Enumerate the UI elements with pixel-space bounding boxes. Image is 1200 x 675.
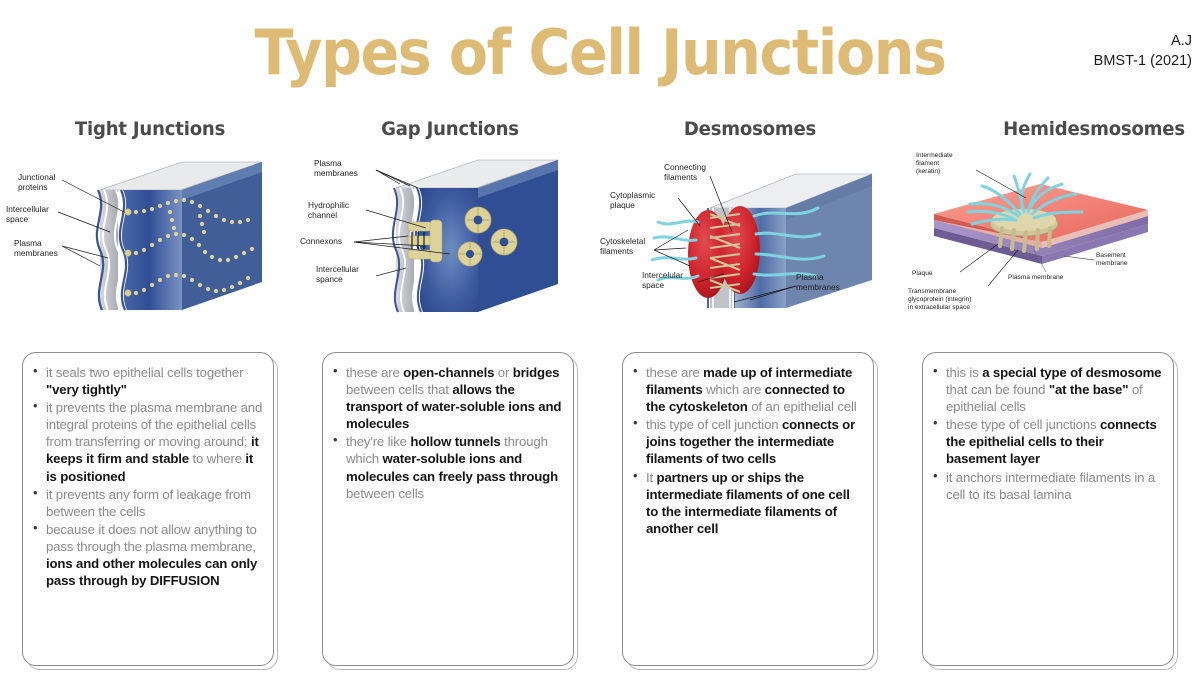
diagram-label: Junctional proteins (18, 172, 55, 192)
column-heading-gap-junctions: Gap Junctions (308, 118, 593, 148)
bullet-item: it prevents any form of leakage from bet… (29, 486, 264, 520)
diagram-label: Basement membrane (1096, 252, 1128, 268)
bullet-item: these are made up of intermediate filame… (629, 364, 864, 415)
diagram-label: Transmembrane glycoprotein (integrin) in… (908, 288, 971, 312)
bullet-list: these are open-channels or bridges betwe… (329, 364, 564, 502)
hemidesmosome-diagram: Intermediate filament (keratin) Basement… (900, 150, 1200, 340)
gap-junction-diagram: Plasma membranes Hydrophilic channel Con… (300, 150, 600, 340)
column-tight-junctions: Tight Junctions (0, 118, 300, 670)
diagram-label: Connecting filaments (664, 162, 706, 182)
column-heading-desmosomes: Desmosomes (608, 118, 893, 148)
page-title: Types of Cell Junctions (48, 20, 1152, 85)
bullet-card-hemidesmosomes: this is a special type of desmosome that… (922, 352, 1178, 670)
slide-header: Types of Cell Junctions A.J BMST-1 (2021… (0, 0, 1200, 118)
bullet-item: it prevents the plasma membrane and inte… (29, 399, 264, 484)
tight-junction-diagram: Junctional proteins Intercellular space … (0, 150, 300, 340)
bullet-card-tight-junctions: it seals two epithelial cells together "… (22, 352, 278, 670)
bullet-item: it anchors intermediate filaments in a c… (929, 469, 1164, 503)
bullet-item: It partners up or ships the intermediate… (629, 469, 864, 537)
diagram-label: Plaque (912, 270, 933, 278)
column-heading-tight-junctions: Tight Junctions (8, 118, 293, 148)
bullet-item: this type of cell junction connects or j… (629, 416, 864, 467)
author-name: A.J (1094, 32, 1192, 52)
bullet-card-gap-junctions: these are open-channels or bridges betwe… (322, 352, 578, 670)
diagram-label: Intercellular space (6, 204, 49, 224)
diagram-label: Cytoplasmic plaque (610, 190, 655, 210)
bullet-item: this is a special type of desmosome that… (929, 364, 1164, 415)
bullet-list: it seals two epithelial cells together "… (29, 364, 264, 589)
card-body: this is a special type of desmosome that… (922, 352, 1174, 666)
bullet-list: this is a special type of desmosome that… (929, 364, 1164, 503)
diagram-label: Intercelular space (642, 270, 683, 290)
card-body: these are open-channels or bridges betwe… (322, 352, 574, 666)
column-gap-junctions: Gap Junctions (300, 118, 600, 670)
attribution: A.J BMST-1 (2021) (1094, 32, 1192, 71)
bullet-item: because it does not allow anything to pa… (29, 521, 264, 589)
diagram-label: Intermediate filament (keratin) (916, 152, 953, 176)
desmosome-diagram: Connecting filaments Cytoplasmic plaque … (600, 150, 900, 340)
diagram-label: Plasma membranes (14, 238, 58, 258)
columns-container: Tight Junctions (0, 118, 1200, 670)
diagram-label: Cytoskeletal filaments (600, 236, 645, 256)
bullet-item: they're like hollow tunnels through whic… (329, 433, 564, 501)
diagram-label: Intercellular spance (316, 264, 359, 284)
column-heading-hemidesmosomes: Hemidesmosomes (908, 118, 1193, 148)
diagram-label: Hydrophilic channel (308, 200, 349, 220)
bullet-item: these type of cell junctions connects th… (929, 416, 1164, 467)
card-body: these are made up of intermediate filame… (622, 352, 874, 666)
diagram-label: Connexons (300, 236, 342, 246)
bullet-item: it seals two epithelial cells together "… (29, 364, 264, 398)
column-hemidesmosomes: Hemidesmosomes (900, 118, 1200, 670)
column-desmosomes: Desmosomes (600, 118, 900, 670)
bullet-item: these are open-channels or bridges betwe… (329, 364, 564, 432)
diagram-label: Plasma membranes (314, 158, 358, 178)
bullet-card-desmosomes: these are made up of intermediate filame… (622, 352, 878, 670)
bullet-list: these are made up of intermediate filame… (629, 364, 864, 537)
diagram-label: Plasma membranes (796, 272, 840, 292)
card-body: it seals two epithelial cells together "… (22, 352, 274, 666)
diagram-label: Plasma membrane (1008, 274, 1063, 282)
course-code: BMST-1 (2021) (1094, 52, 1192, 72)
